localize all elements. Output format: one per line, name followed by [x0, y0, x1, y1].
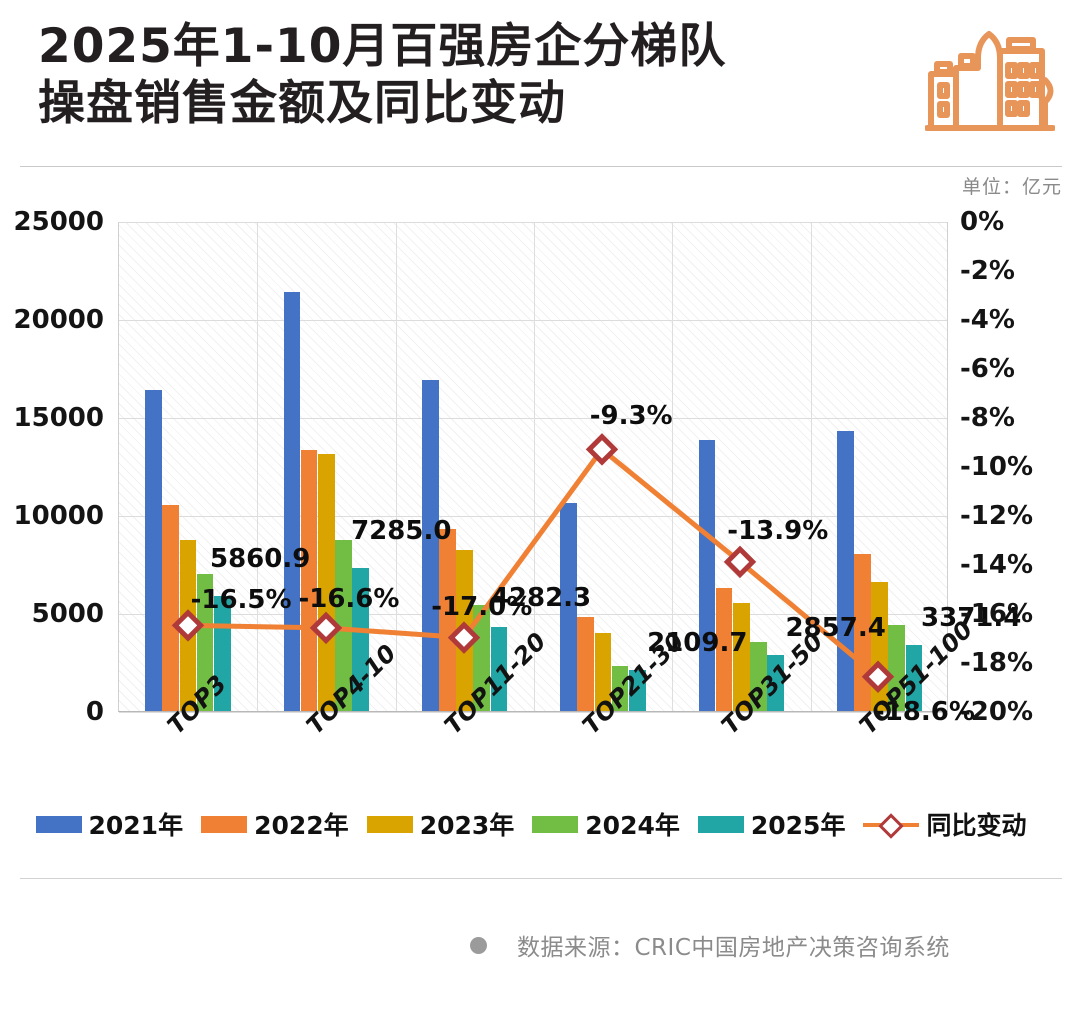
- pct-label-TOP21-30: -9.3%: [590, 401, 673, 431]
- y-tick-right: -4%: [960, 305, 1075, 335]
- chart-legend: 2021年2022年2023年2024年2025年同比变动: [0, 804, 1080, 844]
- source-footer: 数据来源：CRIC中国房地产决策咨询系统: [470, 928, 950, 962]
- pct-label-TOP31-50: -13.9%: [727, 516, 828, 546]
- footer-divider: [20, 878, 1062, 879]
- y-tick-right: -14%: [960, 550, 1075, 580]
- header: 2025年1-10月百强房企分梯队 操盘销售金额及同比变动: [0, 0, 1080, 160]
- legend-swatch: [367, 816, 413, 833]
- bullet-icon: [470, 937, 487, 954]
- value-label-TOP3: 5860.9: [210, 544, 310, 574]
- legend-swatch: [36, 816, 82, 833]
- pct-label-TOP11-20: -17.0%: [431, 592, 532, 622]
- y-tick-right: -2%: [960, 256, 1075, 286]
- legend-item-2022年[interactable]: 2022年: [201, 806, 349, 842]
- legend-item-2025年[interactable]: 2025年: [698, 806, 846, 842]
- y-tick-right: -6%: [960, 354, 1075, 384]
- y-tick-right: -20%: [960, 697, 1075, 727]
- y-tick-right: -10%: [960, 452, 1075, 482]
- legend-label: 2025年: [751, 806, 846, 842]
- yoy-marker-TOP3[interactable]: [175, 613, 200, 638]
- legend-label: 2024年: [585, 806, 680, 842]
- unit-label: 单位：亿元: [962, 172, 1062, 199]
- legend-label: 2022年: [254, 806, 349, 842]
- y-tick-right: -18%: [960, 648, 1075, 678]
- y-tick-right: -16%: [960, 599, 1075, 629]
- y-tick-left: 15000: [0, 403, 104, 433]
- legend-item-2021年[interactable]: 2021年: [36, 806, 184, 842]
- chart-page: 2025年1-10月百强房企分梯队 操盘销售金额及同比变动: [0, 0, 1080, 1012]
- value-label-TOP4-10: 7285.0: [351, 516, 451, 546]
- pct-label-TOP4-10: -16.6%: [298, 584, 399, 614]
- y-tick-right: -8%: [960, 403, 1075, 433]
- legend-label: 2023年: [420, 806, 515, 842]
- yoy-marker-TOP4-10[interactable]: [313, 615, 338, 640]
- page-title-line2: 操盘销售金额及同比变动: [38, 75, 918, 132]
- chart-area: 5860.97285.04282.32109.72857.43371.4-16.…: [0, 200, 1080, 860]
- pct-label-TOP3: -16.5%: [191, 585, 292, 615]
- header-divider: [20, 166, 1062, 167]
- legend-item-2024年[interactable]: 2024年: [532, 806, 680, 842]
- legend-swatch: [201, 816, 247, 833]
- legend-swatch: [532, 816, 578, 833]
- page-title-line1: 2025年1-10月百强房企分梯队: [38, 18, 918, 75]
- source-text: 数据来源：CRIC中国房地产决策咨询系统: [517, 928, 950, 962]
- legend-label: 同比变动: [926, 806, 1026, 842]
- page-title: 2025年1-10月百强房企分梯队 操盘销售金额及同比变动: [38, 18, 918, 132]
- y-tick-left: 25000: [0, 207, 104, 237]
- legend-line-marker-icon: [863, 816, 919, 833]
- y-tick-left: 20000: [0, 305, 104, 335]
- legend-label: 2021年: [89, 806, 184, 842]
- legend-item-同比变动[interactable]: 同比变动: [863, 806, 1026, 842]
- city-buildings-icon: [925, 22, 1055, 142]
- gridline: [119, 712, 947, 713]
- y-tick-left: 5000: [0, 599, 104, 629]
- y-tick-right: -12%: [960, 501, 1075, 531]
- y-tick-left: 0: [0, 697, 104, 727]
- y-tick-left: 10000: [0, 501, 104, 531]
- y-tick-right: 0%: [960, 207, 1075, 237]
- legend-item-2023年[interactable]: 2023年: [367, 806, 515, 842]
- legend-swatch: [698, 816, 744, 833]
